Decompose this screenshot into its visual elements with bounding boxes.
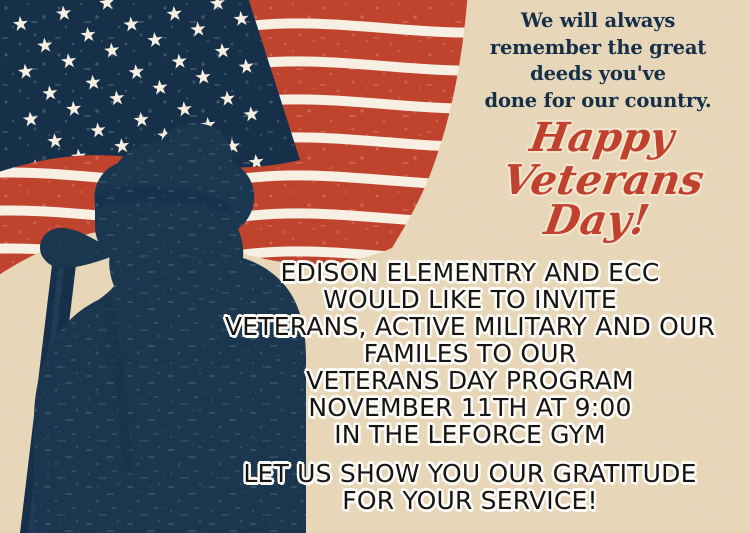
invitation-text-block: EDISON ELEMENTRY AND ECC WOULD LIKE TO I… [190,259,750,448]
invite-line-6: NOVEMBER 11TH AT 9:00 [190,394,750,421]
invite-line-7: IN THE LEFORCE GYM [190,421,750,448]
gratitude-line-1: LET US SHOW YOU OUR GRATITUDE [190,460,750,487]
invite-line-5: VETERANS DAY PROGRAM [190,367,750,394]
headline-line-1: We will always [452,8,744,35]
script-line-happy: Happy [456,118,748,157]
invite-line-3: VETERANS, ACTIVE MILITARY AND OUR [190,313,750,340]
headline-line-2: remember the great [452,35,744,62]
invite-line-4: FAMILES TO OUR [190,340,750,367]
script-line-veterans-day: Veterans Day! [449,160,750,240]
happy-veterans-day-script: Happy Veterans Day! [455,118,745,241]
gratitude-text-block: LET US SHOW YOU OUR GRATITUDE FOR YOUR S… [190,460,750,514]
headline-remember: We will always remember the great deeds … [452,8,744,114]
headline-line-3: deeds you've [452,61,744,88]
veterans-day-poster: We will always remember the great deeds … [0,0,750,533]
invite-line-1: EDISON ELEMENTRY AND ECC [190,259,750,286]
headline-line-4: done for our country. [452,88,744,115]
gratitude-line-2: FOR YOUR SERVICE! [190,487,750,514]
invite-line-2: WOULD LIKE TO INVITE [190,286,750,313]
